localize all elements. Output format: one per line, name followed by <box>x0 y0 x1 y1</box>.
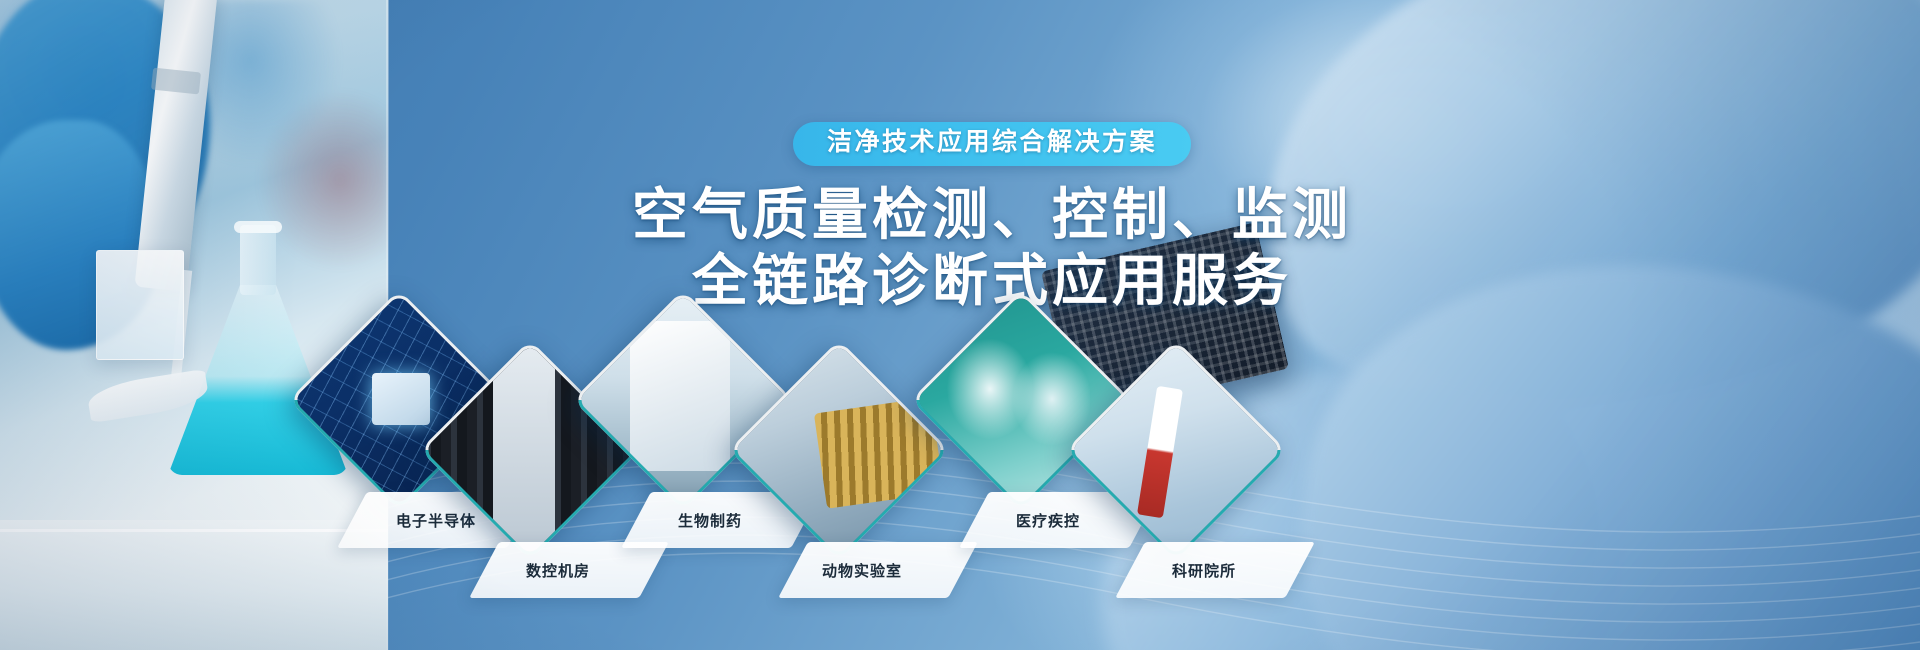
card-label-medical: 医疗疾控 <box>1016 510 1080 531</box>
industry-card-animal-lab[interactable] <box>761 372 911 522</box>
card-label-research: 科研院所 <box>1172 560 1236 581</box>
card-label-biopharma: 生物制药 <box>678 510 742 531</box>
industry-card-row: 电子半导体 数控机房 生物制药 动物实验室 <box>0 0 1920 650</box>
industry-card-research[interactable] <box>1098 372 1248 522</box>
card-label-animal-lab: 动物实验室 <box>822 560 902 581</box>
hero-banner: 洁净技术应用综合解决方案 空气质量检测、控制、监测 全链路诊断式应用服务 电子半… <box>0 0 1920 650</box>
card-label-datacenter: 数控机房 <box>526 560 590 581</box>
